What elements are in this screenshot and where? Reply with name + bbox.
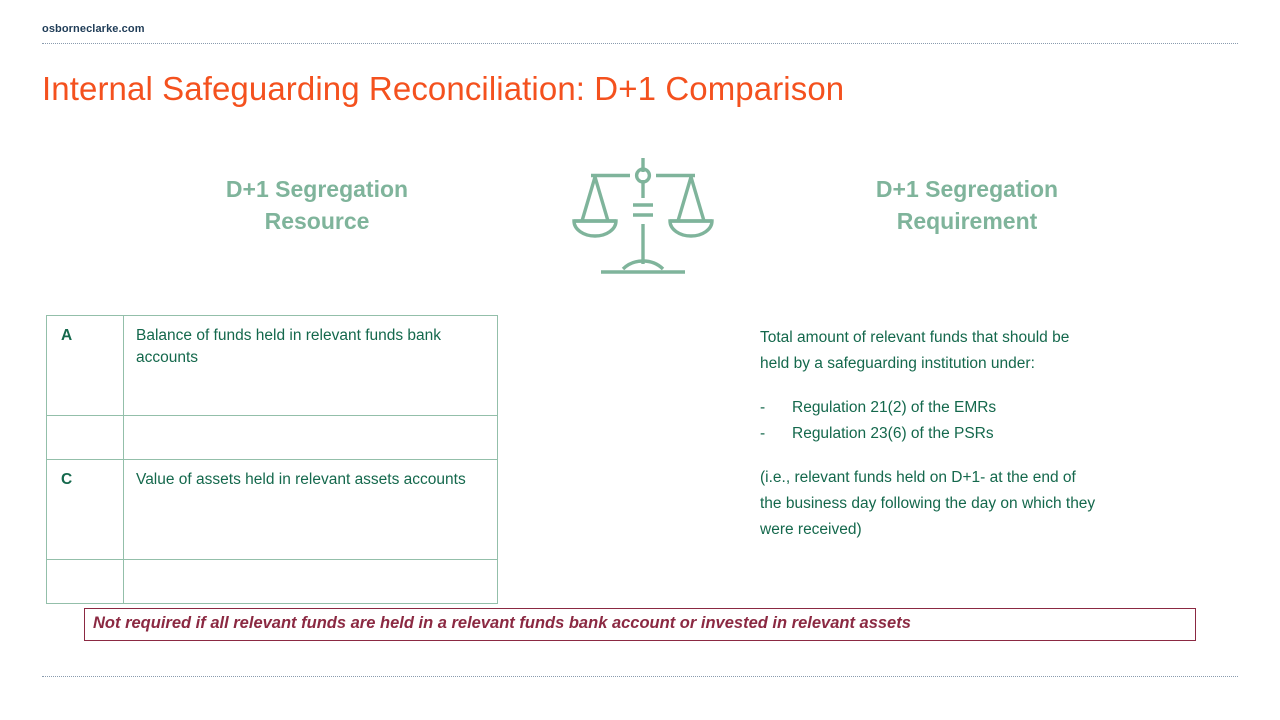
requirement-note-line2: the business day following the day on wh…	[760, 491, 1238, 517]
row-description: Value of assets held in relevant assets …	[124, 460, 498, 560]
balance-scales-icon	[570, 152, 716, 292]
table-body: A Balance of funds held in relevant fund…	[47, 316, 498, 604]
callout-box: Not required if all relevant funds are h…	[84, 608, 1196, 641]
table-row	[47, 416, 498, 460]
bullet-text: Regulation 21(2) of the EMRs	[792, 395, 1238, 421]
right-column-heading-line1: D+1 Segregation	[876, 176, 1058, 202]
right-column-heading: D+1 Segregation Requirement	[802, 174, 1132, 237]
table-row: A Balance of funds held in relevant fund…	[47, 316, 498, 416]
footer-divider	[42, 676, 1238, 677]
header-divider	[42, 43, 1238, 44]
row-description	[124, 416, 498, 460]
row-description	[124, 560, 498, 604]
slide-canvas: osborneclarke.com Internal Safeguarding …	[0, 0, 1280, 720]
segregation-requirement-text: Total amount of relevant funds that shou…	[760, 325, 1238, 543]
bullet-dash-icon: -	[760, 421, 792, 447]
bullet-text: Regulation 23(6) of the PSRs	[792, 421, 1238, 447]
requirement-intro-line2: held by a safeguarding institution under…	[760, 351, 1238, 377]
row-code: A	[47, 316, 124, 416]
requirement-note-line3: were received)	[760, 517, 1238, 543]
left-column-heading-line2: Resource	[265, 208, 370, 234]
requirement-bullet: - Regulation 21(2) of the EMRs	[760, 395, 1238, 421]
requirement-note-line1: (i.e., relevant funds held on D+1- at th…	[760, 465, 1238, 491]
row-code: C	[47, 460, 124, 560]
spacer	[760, 377, 1238, 395]
page-title: Internal Safeguarding Reconciliation: D+…	[42, 70, 844, 108]
spacer	[760, 447, 1238, 465]
requirement-intro-line1: Total amount of relevant funds that shou…	[760, 325, 1238, 351]
row-description: Balance of funds held in relevant funds …	[124, 316, 498, 416]
left-column-heading-line1: D+1 Segregation	[226, 176, 408, 202]
bullet-dash-icon: -	[760, 395, 792, 421]
right-column-heading-line2: Requirement	[897, 208, 1038, 234]
left-column-heading: D+1 Segregation Resource	[152, 174, 482, 237]
segregation-resource-table: A Balance of funds held in relevant fund…	[46, 315, 498, 604]
table-row: C Value of assets held in relevant asset…	[47, 460, 498, 560]
brand-label: osborneclarke.com	[42, 23, 145, 35]
row-code	[47, 560, 124, 604]
row-code	[47, 416, 124, 460]
table-row	[47, 560, 498, 604]
requirement-bullet: - Regulation 23(6) of the PSRs	[760, 421, 1238, 447]
